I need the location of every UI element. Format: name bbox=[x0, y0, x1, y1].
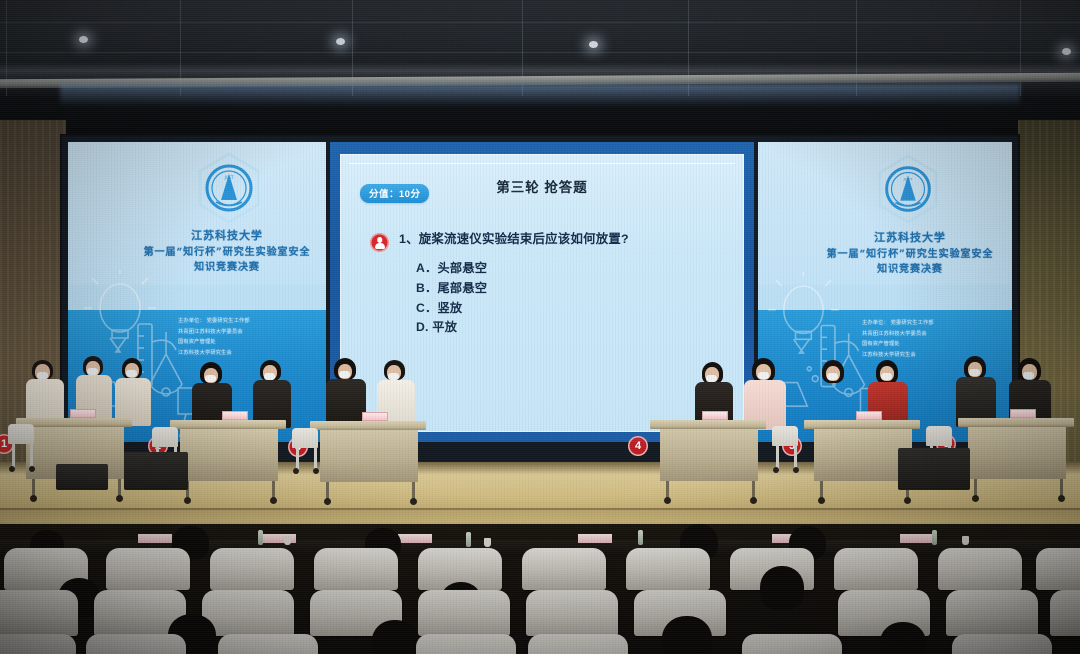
event-title-line2: 第一届“知行杯”研究生实验室安全 bbox=[814, 247, 1006, 262]
audience-seat bbox=[86, 634, 186, 654]
audience-seat bbox=[526, 590, 618, 636]
audience-seat bbox=[418, 590, 510, 636]
svg-text:JUST: JUST bbox=[903, 176, 913, 181]
slide-hairline bbox=[349, 163, 735, 164]
organizer-line: 主办单位： 党委研究生工作部 bbox=[862, 318, 996, 329]
ceiling-spotlight bbox=[79, 36, 88, 43]
option-d: D. 平放 bbox=[416, 318, 730, 338]
paper-cup bbox=[284, 536, 291, 545]
event-title-line1: 江苏科技大学 bbox=[814, 230, 1006, 247]
university-emblem: JUST bbox=[876, 154, 940, 224]
score-badge: 分值：10分 bbox=[360, 184, 429, 203]
chair bbox=[772, 426, 798, 446]
chair bbox=[292, 428, 318, 448]
water-bottle bbox=[932, 530, 937, 545]
organizer-line: 共青团江苏科技大学委员会 bbox=[178, 327, 310, 338]
chair bbox=[152, 427, 178, 447]
option-b: B．尾部悬空 bbox=[416, 279, 730, 299]
question-block: 1、旋桨流速仪实验结束后应该如何放置? A．头部悬空 B．尾部悬空 C．竖放 D… bbox=[370, 232, 730, 338]
desk-number-badge: 4 bbox=[628, 436, 648, 456]
ceiling-spotlight bbox=[336, 38, 345, 45]
audience-seat bbox=[938, 548, 1022, 590]
audience-seat bbox=[106, 548, 190, 590]
name-card bbox=[702, 411, 728, 420]
audience-seat bbox=[416, 634, 516, 654]
audience-seat bbox=[946, 590, 1038, 636]
organizer-list-left: 主办单位： 党委研究生工作部 共青团江苏科技大学委员会 国有资产管理处 江苏科技… bbox=[178, 316, 310, 359]
name-card bbox=[222, 411, 248, 420]
water-bottle bbox=[466, 532, 471, 547]
audience-seat bbox=[1036, 548, 1080, 590]
audience-seat bbox=[0, 634, 76, 654]
svg-text:JUST: JUST bbox=[223, 175, 234, 180]
person-badge-icon bbox=[370, 233, 389, 252]
university-emblem: JUST bbox=[196, 152, 262, 224]
audience-seat bbox=[202, 590, 294, 636]
audience-seat bbox=[0, 590, 78, 636]
name-card bbox=[70, 409, 96, 418]
event-title-line2: 第一届“知行杯”研究生实验室安全 bbox=[132, 245, 322, 260]
audience-head bbox=[662, 616, 712, 654]
audience-seat bbox=[522, 548, 606, 590]
event-title-line3: 知识竞赛决赛 bbox=[814, 262, 1006, 277]
organizer-line: 江苏科技大学研究生会 bbox=[178, 348, 310, 359]
table-name-card bbox=[138, 534, 172, 543]
stage-monitor-box bbox=[56, 464, 108, 490]
event-title-left: 江苏科技大学 第一届“知行杯”研究生实验室安全 知识竞赛决赛 bbox=[132, 228, 322, 275]
table-name-card bbox=[578, 534, 612, 543]
audience-seat bbox=[742, 634, 842, 654]
stage-speaker bbox=[124, 452, 188, 490]
answer-options: A．头部悬空 B．尾部悬空 C．竖放 D. 平放 bbox=[416, 259, 730, 338]
audience-seat bbox=[1050, 590, 1080, 636]
name-card bbox=[362, 412, 388, 421]
ceiling bbox=[0, 0, 1080, 136]
paper-cup bbox=[484, 538, 491, 547]
chair bbox=[926, 426, 952, 446]
question-text: 1、旋桨流速仪实验结束后应该如何放置? bbox=[399, 232, 629, 248]
option-c: C．竖放 bbox=[416, 299, 730, 319]
organizer-list-right: 主办单位： 党委研究生工作部 共青团江苏科技大学委员会 国有资产管理处 江苏科技… bbox=[862, 318, 996, 361]
water-bottle bbox=[638, 530, 643, 545]
organizer-line: 主办单位： 党委研究生工作部 bbox=[178, 316, 310, 327]
ceiling-spotlight bbox=[589, 41, 598, 48]
organizer-line: 共青团江苏科技大学委员会 bbox=[862, 329, 996, 340]
table-name-card bbox=[900, 534, 934, 543]
audience-seat bbox=[834, 548, 918, 590]
ceiling-spotlight bbox=[1062, 48, 1071, 55]
table-name-card bbox=[398, 534, 432, 543]
name-card bbox=[1010, 409, 1036, 418]
stage-speaker bbox=[898, 448, 970, 490]
audience-seat bbox=[210, 548, 294, 590]
organizer-line: 国有资产管理处 bbox=[862, 339, 996, 350]
paper-cup bbox=[962, 536, 969, 545]
auditorium-stage-photo: JUST bbox=[0, 0, 1080, 654]
option-a: A．头部悬空 bbox=[416, 259, 730, 279]
audience-seat bbox=[218, 634, 318, 654]
screen-glow bbox=[60, 84, 1020, 106]
organizer-line: 国有资产管理处 bbox=[178, 337, 310, 348]
audience-seat bbox=[528, 634, 628, 654]
water-bottle bbox=[258, 530, 263, 545]
audience-seat bbox=[314, 548, 398, 590]
audience-seat bbox=[626, 548, 710, 590]
chair bbox=[8, 424, 34, 444]
event-title-right: 江苏科技大学 第一届“知行杯”研究生实验室安全 知识竞赛决赛 bbox=[814, 230, 1006, 277]
event-title-line3: 知识竞赛决赛 bbox=[132, 260, 322, 275]
audience-head bbox=[880, 622, 926, 654]
audience-head bbox=[760, 566, 804, 610]
audience-area bbox=[0, 524, 1080, 654]
audience-head bbox=[372, 620, 418, 654]
audience-seat bbox=[952, 634, 1052, 654]
name-card bbox=[856, 411, 882, 420]
event-title-line1: 江苏科技大学 bbox=[132, 228, 322, 245]
